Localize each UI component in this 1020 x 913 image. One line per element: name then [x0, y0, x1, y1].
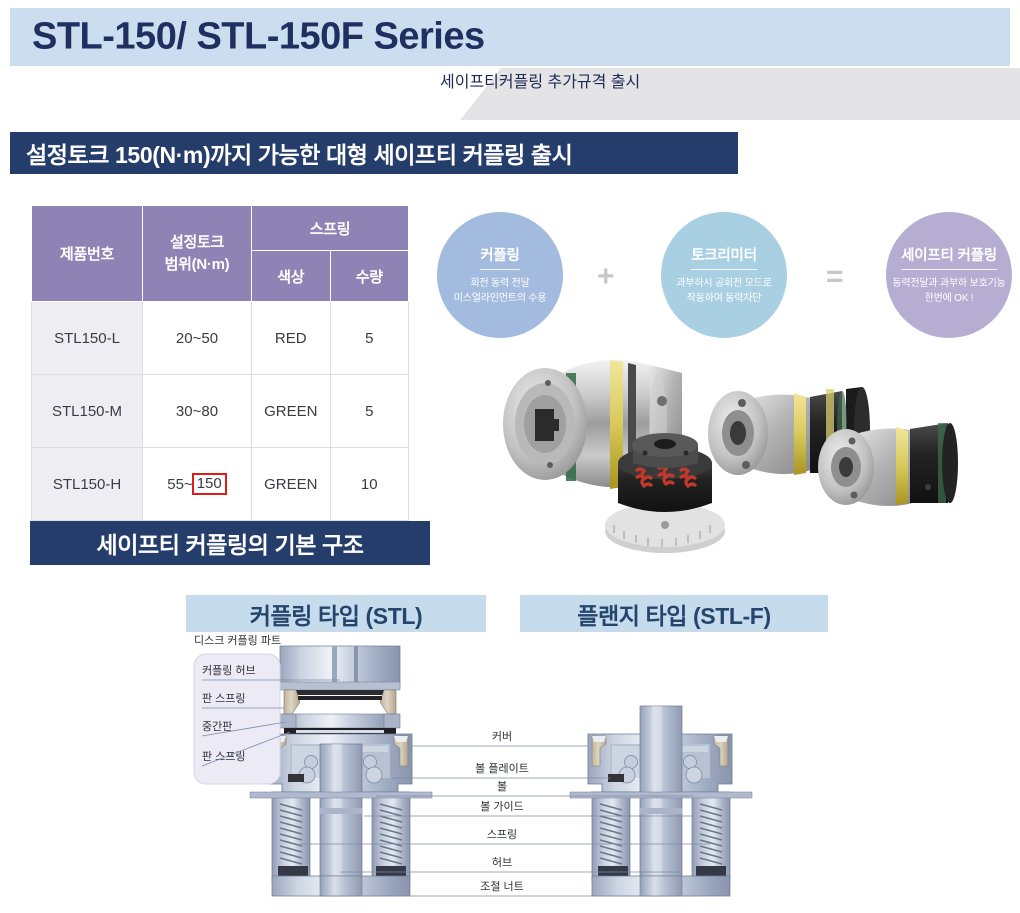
label-plate-spring-upper: 판 스프링: [202, 692, 246, 705]
concept-title-limiter: 토크리미터: [691, 244, 757, 270]
cell-torque-range: 55~150: [143, 448, 252, 521]
column-header-torque-line2: 범위(N·m): [165, 256, 230, 273]
cell-model: STL150-M: [32, 375, 143, 448]
concept-desc-safety-line2: 한번에 OK !: [925, 291, 974, 307]
table-row: STL150-L20~50RED5: [32, 302, 409, 375]
plus-operator-icon: +: [597, 262, 615, 292]
product-photo: [490, 345, 970, 560]
spec-table-body: STL150-L20~50RED5STL150-M30~80GREEN5STL1…: [32, 302, 409, 521]
product-photo-illustration: [490, 345, 970, 560]
tab-stl-label: 커플링 타입 (STL): [250, 597, 423, 631]
spec-table-head: 제품번호 설정토크 범위(N·m) 스프링 색상 수량: [32, 206, 409, 302]
column-header-torque-line1: 설정토크: [170, 234, 224, 251]
cell-torque-range: 20~50: [143, 302, 252, 375]
label-ball: 볼: [497, 780, 507, 793]
page-title: STL-150/ STL-150F Series: [32, 16, 485, 59]
cross-section-svg: 디스크 커플링 파트 커플링 허브 판 스프링 중간판 판 스프링 커버 볼 플…: [180, 632, 880, 908]
spec-table: 제품번호 설정토크 범위(N·m) 스프링 색상 수량 STL150-L20~5…: [31, 205, 409, 521]
column-header-spring-group: 스프링: [252, 206, 409, 251]
column-header-torque: 설정토크 범위(N·m): [143, 206, 252, 302]
column-header-color: 색상: [252, 251, 331, 302]
label-ball-plate: 볼 플레이트: [475, 762, 529, 775]
equals-operator-icon: =: [826, 262, 844, 292]
table-row: STL150-M30~80GREEN5: [32, 375, 409, 448]
headline-bar: 설정토크 150(N·m)까지 가능한 대형 세이프티 커플링 출시: [10, 132, 738, 174]
cell-spring-quantity: 10: [330, 448, 409, 521]
cell-spring-quantity: 5: [330, 375, 409, 448]
label-adjust-nut: 조절 너트: [480, 880, 524, 893]
concept-desc-limiter-line2: 작동하여 동력차단: [687, 291, 762, 307]
cell-spring-color: GREEN: [252, 375, 331, 448]
table-row: STL150-H55~150GREEN10: [32, 448, 409, 521]
concept-equation: 커플링 회전 동력 전달 미스얼라인먼트의 수용 + 토크리미터 과부하시 공회…: [437, 212, 1012, 338]
structure-heading-text: 세이프티 커플링의 기본 구조: [96, 526, 363, 560]
label-coupling-hub: 커플링 허브: [202, 664, 256, 677]
concept-desc-limiter-line1: 과부하시 공회전 모드로: [676, 276, 771, 292]
cell-model: STL150-H: [32, 448, 143, 521]
label-disc-coupling-part: 디스크 커플링 파트: [194, 634, 281, 647]
torque-prefix: 30~80: [176, 403, 218, 420]
subtitle-banner: [440, 68, 1020, 120]
label-spring: 스프링: [487, 828, 517, 841]
concept-circle-coupling: 커플링 회전 동력 전달 미스얼라인먼트의 수용: [437, 212, 563, 338]
torque-prefix: 20~50: [176, 330, 218, 347]
column-header-model: 제품번호: [32, 206, 143, 302]
product-item-black-right: [818, 423, 958, 506]
cell-spring-quantity: 5: [330, 302, 409, 375]
tab-flange-type-stl-f[interactable]: 플랜지 타입 (STL-F): [520, 595, 828, 632]
cell-spring-color: GREEN: [252, 448, 331, 521]
concept-title-coupling: 커플링: [480, 244, 519, 270]
concept-desc-coupling-line2: 미스얼라인먼트의 수용: [454, 291, 547, 307]
cell-spring-color: RED: [252, 302, 331, 375]
cell-torque-range: 30~80: [143, 375, 252, 448]
concept-desc-coupling-line1: 회전 동력 전달: [470, 276, 529, 292]
column-header-quantity: 수량: [330, 251, 409, 302]
concept-circle-safety-coupling: 세이프티 커플링 동력전달과 과부하 보호기능 한번에 OK !: [886, 212, 1012, 338]
tab-coupling-type-stl[interactable]: 커플링 타입 (STL): [186, 595, 486, 632]
title-banner: STL-150/ STL-150F Series: [10, 8, 1010, 66]
structure-section-heading: 세이프티 커플링의 기본 구조: [30, 521, 430, 565]
cell-model: STL150-L: [32, 302, 143, 375]
tab-stl-f-label: 플랜지 타입 (STL-F): [577, 597, 770, 631]
concept-title-safety: 세이프티 커플링: [901, 244, 997, 270]
torque-value-wrap: 30~80: [176, 403, 218, 420]
technical-cross-section-diagram: 디스크 커플링 파트 커플링 허브 판 스프링 중간판 판 스프링 커버 볼 플…: [180, 632, 880, 908]
assembly-flange-type: [570, 706, 752, 896]
torque-value-wrap: 55~150: [167, 473, 226, 496]
label-ball-guide: 볼 가이드: [480, 800, 524, 813]
torque-value-wrap: 20~50: [176, 330, 218, 347]
label-cover: 커버: [492, 730, 512, 743]
torque-highlight-box: 150: [192, 473, 227, 496]
label-intermediate-plate: 중간판: [202, 720, 232, 733]
label-hub: 허브: [492, 856, 512, 869]
concept-desc-safety-line1: 동력전달과 과부하 보호기능: [892, 276, 1005, 292]
headline-text: 설정토크 150(N·m)까지 가능한 대형 세이프티 커플링 출시: [26, 136, 572, 170]
concept-circle-torque-limiter: 토크리미터 과부하시 공회전 모드로 작동하여 동력차단: [661, 212, 787, 338]
table-header-row-1: 제품번호 설정토크 범위(N·m) 스프링: [32, 206, 409, 251]
torque-prefix: 55~: [167, 476, 192, 493]
